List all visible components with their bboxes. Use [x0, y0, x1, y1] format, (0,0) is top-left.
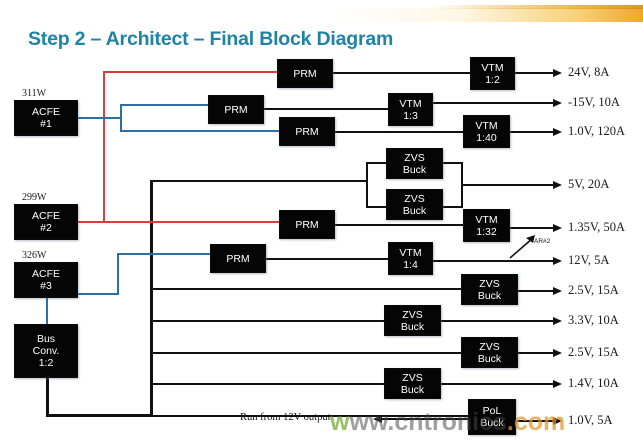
wire-prm1-to-vtm1 — [333, 72, 470, 74]
block-prm-1-label: PRM — [293, 68, 316, 80]
block-vtm-1-3[interactable]: VTM 1:3 — [388, 93, 433, 126]
output-label-6: 12V, 5A — [568, 253, 609, 268]
block-acfe-2-id: #2 — [40, 222, 52, 234]
arrowhead-out-6 — [553, 257, 562, 265]
block-prm-2[interactable]: PRM — [208, 95, 264, 124]
blue-acfe1-node — [78, 117, 122, 119]
arrowhead-out-10 — [553, 380, 562, 388]
output-label-11: 1.0V, 5A — [568, 413, 613, 428]
block-zvs-buck-6[interactable]: ZVS Buck — [384, 368, 441, 399]
black-busconv-stub — [46, 378, 49, 417]
red-acfe2-stub — [78, 221, 105, 223]
black-branch-zvspair — [150, 180, 368, 182]
block-zvs-buck-4-line2: Buck — [401, 321, 424, 333]
blue-prm3-feed — [120, 130, 279, 132]
power-label-acfe3: 326W — [22, 250, 46, 261]
wire-prm3-to-vtm3 — [335, 131, 463, 133]
zvs-pair-left-vertical — [366, 162, 368, 208]
ar2-label: AR#2 — [534, 238, 550, 245]
blue-prm2-feed — [120, 104, 210, 106]
block-vtm-1-2-line2: 1:2 — [485, 74, 500, 86]
block-prm-3[interactable]: PRM — [279, 117, 335, 146]
page-title: Step 2 – Architect – Final Block Diagram — [28, 28, 393, 51]
watermark-part-2: ww.cntronics — [349, 408, 506, 436]
run-from-12v-label: Run from 12V output — [240, 412, 331, 423]
red-bus-vertical — [103, 71, 105, 223]
wire-prm5-to-vtm6 — [266, 258, 388, 260]
arrowhead-out-2 — [553, 99, 562, 107]
output-label-4: 5V, 20A — [568, 177, 609, 192]
output-label-5: 1.35V, 50A — [568, 220, 625, 235]
block-bus-converter[interactable]: Bus Conv. 1:2 — [14, 324, 78, 378]
arrowhead-out-5 — [553, 224, 562, 232]
wire-out-1 — [515, 72, 555, 74]
block-vtm-1-40-line2: 1:40 — [476, 132, 496, 144]
block-zvs-buck-5-line1: ZVS — [479, 341, 499, 353]
black-branch-r8 — [150, 320, 384, 322]
bus-converter-line1: Bus — [37, 333, 55, 345]
block-prm-1[interactable]: PRM — [277, 59, 333, 88]
arrowhead-out-8 — [553, 317, 562, 325]
zvs-pair-right-top — [443, 162, 463, 164]
blue-busconv-vertical — [117, 253, 119, 295]
output-label-10: 1.4V, 10A — [568, 376, 619, 391]
top-gradient-band — [0, 8, 643, 22]
block-vtm-1-4-line2: 1:4 — [403, 259, 418, 271]
wire-out-10 — [441, 383, 555, 385]
block-prm-4[interactable]: PRM — [279, 210, 335, 239]
wire-prm4-to-vtm5 — [335, 224, 463, 226]
block-zvs-buck-4-line1: ZVS — [402, 309, 422, 321]
block-prm-4-label: PRM — [295, 219, 318, 231]
block-zvs-buck-6-line1: ZVS — [402, 372, 422, 384]
block-vtm-1-40[interactable]: VTM 1:40 — [463, 115, 510, 148]
wire-out-9 — [518, 352, 555, 354]
block-zvs-buck-1-line1: ZVS — [404, 152, 424, 164]
block-vtm-1-4-line1: VTM — [399, 247, 421, 259]
wire-out-6 — [433, 260, 555, 262]
block-vtm-1-40-line1: VTM — [475, 120, 497, 132]
wire-prm2-to-vtm2 — [264, 108, 388, 110]
power-label-acfe1: 311W — [22, 88, 46, 99]
wire-out-4 — [462, 184, 555, 186]
black-branch-r7 — [150, 288, 461, 290]
red-bus-top-horizontal — [103, 71, 279, 73]
block-zvs-buck-5[interactable]: ZVS Buck — [461, 337, 518, 368]
watermark-part-3: .com — [507, 408, 565, 436]
block-zvs-buck-1[interactable]: ZVS Buck — [386, 148, 443, 179]
block-prm-3-label: PRM — [295, 126, 318, 138]
zvs-pair-left-bot — [366, 206, 386, 208]
block-zvs-buck-2[interactable]: ZVS Buck — [386, 189, 443, 220]
site-watermark: www.cntronics.com — [330, 408, 565, 437]
bus-converter-line3: 1:2 — [39, 357, 54, 369]
wire-out-7 — [518, 290, 555, 292]
output-label-9: 2.5V, 15A — [568, 345, 619, 360]
wire-out-3 — [510, 131, 555, 133]
block-prm-2-label: PRM — [224, 104, 247, 116]
block-acfe-2[interactable]: ACFE #2 — [14, 204, 78, 240]
output-label-2: -15V, 10A — [568, 95, 620, 110]
output-label-8: 3.3V, 10A — [568, 313, 619, 328]
black-bus-vertical — [150, 180, 153, 417]
block-vtm-1-32-line1: VTM — [475, 214, 497, 226]
arrowhead-out-7 — [553, 287, 562, 295]
block-acfe-1[interactable]: ACFE #1 — [14, 100, 78, 136]
red-bus-bottom-horizontal — [103, 221, 279, 223]
block-vtm-1-2-line1: VTM — [481, 62, 503, 74]
arrowhead-out-1 — [553, 69, 562, 77]
black-branch-r10 — [150, 383, 384, 385]
output-label-7: 2.5V, 15A — [568, 283, 619, 298]
block-acfe-2-name: ACFE — [32, 210, 60, 222]
block-acfe-1-id: #1 — [40, 118, 52, 130]
power-label-acfe2: 299W — [22, 192, 46, 203]
block-zvs-buck-3-line1: ZVS — [479, 278, 499, 290]
output-label-3: 1.0V, 120A — [568, 124, 625, 139]
block-prm-5[interactable]: PRM — [210, 244, 266, 273]
block-zvs-buck-2-line1: ZVS — [404, 193, 424, 205]
bus-converter-line2: Conv. — [33, 345, 60, 357]
watermark-part-1: w — [330, 408, 349, 436]
wire-out-2 — [433, 102, 555, 104]
block-zvs-buck-3[interactable]: ZVS Buck — [461, 274, 518, 305]
block-acfe-3-id: #3 — [40, 280, 52, 292]
block-vtm-1-2[interactable]: VTM 1:2 — [470, 57, 515, 90]
block-acfe-3-name: ACFE — [32, 268, 60, 280]
block-vtm-1-3-line2: 1:3 — [403, 110, 418, 122]
block-zvs-buck-6-line2: Buck — [401, 384, 424, 396]
zvs-pair-left-top — [366, 162, 386, 164]
wire-out-5 — [510, 227, 555, 229]
block-vtm-1-32-line2: 1:32 — [476, 226, 496, 238]
arrowhead-out-9 — [553, 349, 562, 357]
block-zvs-buck-4[interactable]: ZVS Buck — [384, 305, 441, 336]
arrowhead-out-3 — [553, 128, 562, 136]
block-acfe-3[interactable]: ACFE #3 — [14, 262, 78, 298]
blue-prm5-feed — [117, 253, 210, 255]
block-zvs-buck-5-line2: Buck — [478, 353, 501, 365]
black-bus-bottom — [46, 414, 153, 417]
zvs-pair-right-bot — [443, 206, 463, 208]
wire-out-8 — [441, 320, 555, 322]
output-label-1: 24V, 8A — [568, 65, 609, 80]
black-branch-r9 — [150, 352, 461, 354]
block-zvs-buck-1-line2: Buck — [403, 164, 426, 176]
block-acfe-1-name: ACFE — [32, 106, 60, 118]
block-vtm-1-4[interactable]: VTM 1:4 — [388, 242, 433, 275]
block-prm-5-label: PRM — [226, 253, 249, 265]
top-gradient-rule — [430, 5, 643, 9]
block-zvs-buck-2-line2: Buck — [403, 205, 426, 217]
block-vtm-1-32[interactable]: VTM 1:32 — [463, 209, 510, 242]
block-zvs-buck-3-line2: Buck — [478, 290, 501, 302]
arrowhead-out-4 — [553, 181, 562, 189]
slide-canvas: Step 2 – Architect – Final Block Diagram… — [0, 0, 643, 443]
block-vtm-1-3-line1: VTM — [399, 98, 421, 110]
